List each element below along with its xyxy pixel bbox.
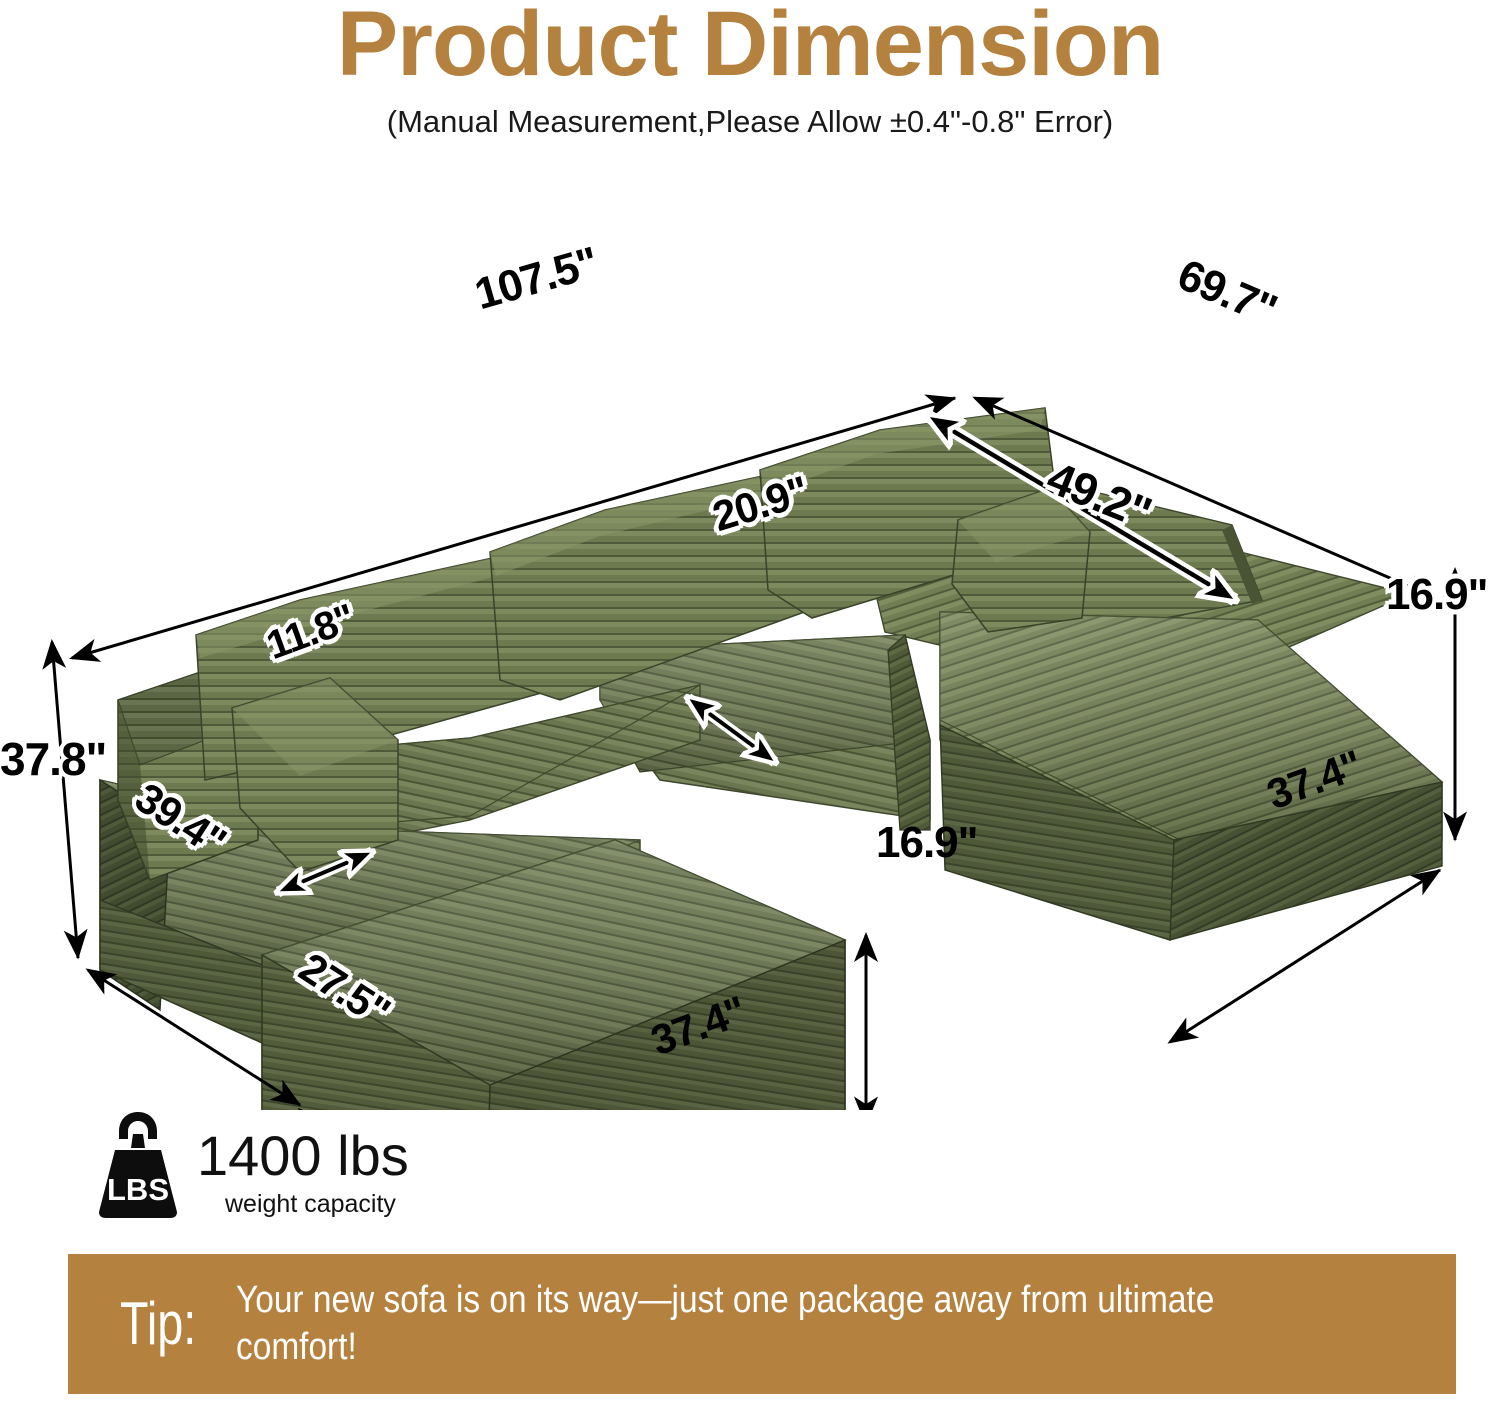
dim-line-overall-height: [52, 642, 78, 958]
weight-capacity-value: 1400 lbs: [197, 1128, 409, 1184]
page-title: Product Dimension: [0, 0, 1500, 90]
tip-label: Tip:: [120, 1294, 196, 1354]
product-dimension-diagram: 107.5" 69.7" 37.8" 20.9" 11.8" 49.2" 16.…: [0, 180, 1500, 1110]
weight-icon-label: LBS: [107, 1172, 169, 1207]
dim-label-ottoman-height: 16.9": [876, 818, 978, 868]
weight-lbs-icon: LBS: [95, 1108, 181, 1220]
weight-capacity-caption: weight capacity: [225, 1190, 409, 1219]
weight-capacity-block: LBS 1400 lbs weight capacity: [95, 1108, 409, 1220]
header: Product Dimension (Manual Measurement,Pl…: [0, 0, 1500, 140]
dim-label-chaise-seat-height: 16.9": [1386, 570, 1488, 620]
dim-label-overall-height: 37.8": [0, 732, 106, 786]
tip-banner: Tip: Your new sofa is on its way—just on…: [68, 1254, 1456, 1394]
tip-text: Your new sofa is on its way—just one pac…: [236, 1277, 1310, 1372]
sofa-illustration: [0, 180, 1500, 1110]
page-subtitle: (Manual Measurement,Please Allow ±0.4"-0…: [0, 104, 1500, 140]
